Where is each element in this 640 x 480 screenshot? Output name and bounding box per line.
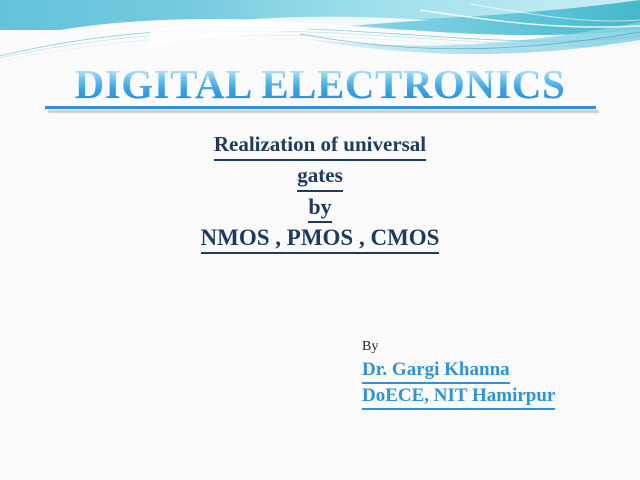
presentation-slide: DIGITAL ELECTRONICS Realization of unive… [0,0,640,480]
page-title: DIGITAL ELECTRONICS [71,62,570,106]
subtitle-line-1-text: Realization of universal [214,130,426,161]
byline-author-name: Dr. Gargi Khanna [362,358,622,384]
title-underline [45,106,596,109]
slide-subtitle-block: Realization of universal gates by NMOS ,… [0,130,640,254]
byline-author-affiliation-text: DoECE, NIT Hamirpur [362,384,555,410]
subtitle-line-1: Realization of universal [0,130,640,161]
wave-banner-decoration [0,0,640,64]
byline-author-name-text: Dr. Gargi Khanna [362,358,510,384]
byline-author-affiliation: DoECE, NIT Hamirpur [362,384,622,410]
slide-byline-block: By Dr. Gargi Khanna DoECE, NIT Hamirpur [362,338,622,410]
wave-banner-svg [0,0,640,64]
subtitle-line-4-text: NMOS , PMOS , CMOS [201,223,440,254]
slide-title-block: DIGITAL ELECTRONICS [0,62,640,106]
subtitle-line-3-text: by [308,192,331,223]
subtitle-line-4: NMOS , PMOS , CMOS [0,223,640,254]
subtitle-line-3: by [0,192,640,223]
title-underline-shadow [48,110,599,113]
subtitle-line-2: gates [0,161,640,192]
subtitle-line-2-text: gates [297,161,343,192]
byline-label: By [362,338,622,356]
